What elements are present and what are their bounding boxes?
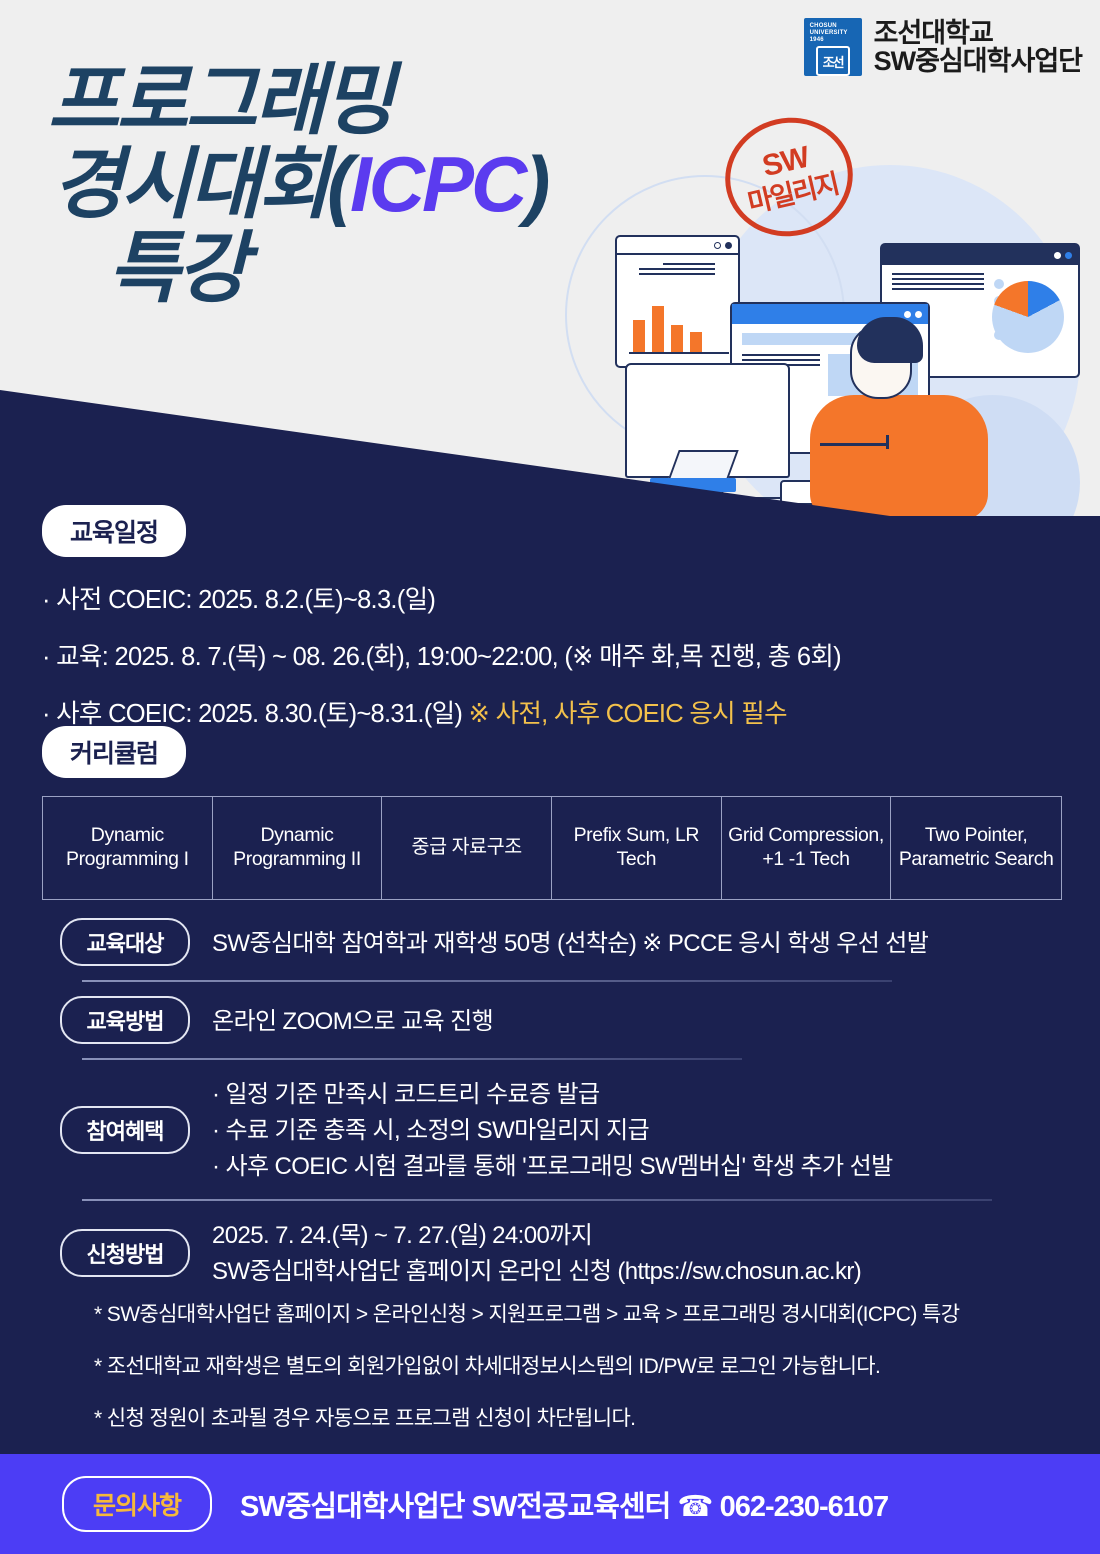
divider <box>82 1199 992 1201</box>
schedule-row-text: · 사전 COEIC: 2025. 8.2.(토)~8.3.(일) <box>42 586 435 614</box>
curriculum-cell: 중급 자료구조 <box>382 797 552 899</box>
window-dot-icon <box>915 311 922 318</box>
logo-latin-line-3: 1946 <box>804 37 862 44</box>
detail-text: SW중심대학 참여학과 재학생 50명 (선착순) ※ PCCE 응시 학생 우… <box>212 926 1050 962</box>
poster-root: SW 마일리지 CHOSUN UNIVERSITY 1946 조선 조선대학교 … <box>0 0 1100 1554</box>
detail-label-benefits: 참여혜택 <box>60 1106 190 1154</box>
detail-text: · 사후 COEIC 시험 결과를 통해 '프로그래밍 SW멤버십' 학생 추가… <box>212 1149 1050 1185</box>
divider <box>82 980 892 982</box>
person-body <box>810 395 988 520</box>
section-curriculum: 커리큘럼 Dynamic Programming I Dynamic Progr… <box>42 726 1062 900</box>
curriculum-cell: Grid Compression, +1 -1 Tech <box>722 797 892 899</box>
text-lines-placeholder <box>882 265 1078 290</box>
schedule-row: · 사전 COEIC: 2025. 8.2.(토)~8.3.(일) <box>42 579 1062 616</box>
window-dot-icon <box>725 242 732 249</box>
logo-mark-icon: CHOSUN UNIVERSITY 1946 조선 <box>804 18 862 76</box>
detail-text: 2025. 7. 24.(목) ~ 7. 27.(일) 24:00까지 <box>212 1218 1050 1254</box>
window-titlebar <box>617 237 738 255</box>
note-line: * 신청 정원이 초과될 경우 자동으로 프로그램 신청이 차단됩니다. <box>94 1402 959 1432</box>
footer-label: 문의사항 <box>62 1476 212 1532</box>
section-schedule: 교육일정 · 사전 COEIC: 2025. 8.2.(토)~8.3.(일) ·… <box>42 505 1062 750</box>
schedule-row: · 사후 COEIC: 2025. 8.30.(토)~8.31.(일) ※ 사전… <box>42 693 1062 730</box>
schedule-row-note: ※ 사전, 사후 COEIC 응시 필수 <box>469 700 787 728</box>
curriculum-cell: Two Pointer, Parametric Search <box>891 797 1061 899</box>
detail-content-target: SW중심대학 참여학과 재학생 50명 (선착순) ※ PCCE 응시 학생 우… <box>190 923 1050 962</box>
person-arm-vertical <box>886 435 889 449</box>
detail-label-method: 교육방법 <box>60 996 190 1044</box>
university-logo: CHOSUN UNIVERSITY 1946 조선 조선대학교 SW중심대학사업… <box>804 18 1082 76</box>
page-title: 프로그래밍 경시대회(ICPC) 특강 <box>48 58 547 311</box>
stamp-line-2: 마일리지 <box>745 170 840 217</box>
person-arm <box>820 443 888 446</box>
title-line-2: 경시대회(ICPC) <box>52 142 547 226</box>
bar-chart-icon <box>629 298 729 354</box>
detail-text: SW중심대학사업단 홈페이지 온라인 신청 (https://sw.chosun… <box>212 1254 1050 1290</box>
hero-illustration <box>595 195 1100 525</box>
section-notes: * SW중심대학사업단 홈페이지 > 온라인신청 > 지원프로그램 > 교육 >… <box>94 1298 959 1454</box>
curriculum-cell: Prefix Sum, LR Tech <box>552 797 722 899</box>
detail-text: · 일정 기준 만족시 코드트리 수료증 발급 <box>212 1077 1050 1113</box>
logo-name-line-2: SW중심대학사업단 <box>874 47 1082 75</box>
window-bar-chart <box>615 235 740 368</box>
schedule-label: 교육일정 <box>42 505 186 557</box>
divider <box>82 1058 742 1060</box>
logo-latin-line-2: UNIVERSITY <box>804 30 862 37</box>
footer-contact-text: SW중심대학사업단 SW전공교육센터 ☎ 062-230-6107 <box>240 1483 888 1525</box>
curriculum-label: 커리큘럼 <box>42 726 186 778</box>
logo-wordmark: 조선대학교 SW중심대학사업단 <box>874 19 1082 76</box>
person-hair <box>857 317 923 363</box>
section-details: 교육대상 SW중심대학 참여학과 재학생 50명 (선착순) ※ PCCE 응시… <box>60 918 1050 1290</box>
schedule-row: · 교육: 2025. 8. 7.(목) ~ 08. 26.(화), 19:00… <box>42 636 1062 673</box>
footer-contact: 문의사항 SW중심대학사업단 SW전공교육센터 ☎ 062-230-6107 <box>0 1454 1100 1554</box>
window-dot-icon <box>1054 252 1061 259</box>
detail-row-method: 교육방법 온라인 ZOOM으로 교육 진행 <box>60 996 1050 1044</box>
detail-label-target: 교육대상 <box>60 918 190 966</box>
detail-row-apply: 신청방법 2025. 7. 24.(목) ~ 7. 27.(일) 24:00까지… <box>60 1215 1050 1290</box>
logo-seal-icon: 조선 <box>816 46 850 76</box>
window-titlebar <box>882 245 1078 265</box>
text-lines-placeholder <box>617 255 738 275</box>
detail-row-target: 교육대상 SW중심대학 참여학과 재학생 50명 (선착순) ※ PCCE 응시… <box>60 918 1050 966</box>
logo-name-line-1: 조선대학교 <box>874 19 1082 47</box>
note-line: * SW중심대학사업단 홈페이지 > 온라인신청 > 지원프로그램 > 교육 >… <box>94 1298 959 1328</box>
title-line-1: 프로그래밍 <box>48 58 547 142</box>
curriculum-cell: Dynamic Programming I <box>43 797 213 899</box>
window-dot-icon <box>904 311 911 318</box>
curriculum-table: Dynamic Programming I Dynamic Programmin… <box>42 796 1062 900</box>
title-line-2-suffix: ) <box>524 140 547 228</box>
detail-text: · 수료 기준 충족 시, 소정의 SW마일리지 지급 <box>212 1113 1050 1149</box>
detail-row-benefits: 참여혜택 · 일정 기준 만족시 코드트리 수료증 발급 · 수료 기준 충족 … <box>60 1074 1050 1185</box>
schedule-row-text: · 사후 COEIC: 2025. 8.30.(토)~8.31.(일) <box>42 700 462 728</box>
title-line-3: 특강 <box>108 226 547 310</box>
detail-text: 온라인 ZOOM으로 교육 진행 <box>212 1004 1050 1040</box>
title-line-2-accent: ICPC <box>350 140 524 228</box>
schedule-list: · 사전 COEIC: 2025. 8.2.(토)~8.3.(일) · 교육: … <box>42 579 1062 730</box>
title-line-2-prefix: 경시대회( <box>52 140 350 228</box>
note-line: * 조선대학교 재학생은 별도의 회원가입없이 차세대정보시스템의 ID/PW로… <box>94 1350 959 1380</box>
detail-content-benefits: · 일정 기준 만족시 코드트리 수료증 발급 · 수료 기준 충족 시, 소정… <box>190 1074 1050 1185</box>
window-dot-icon <box>714 242 721 249</box>
detail-content-method: 온라인 ZOOM으로 교육 진행 <box>190 1001 1050 1040</box>
pie-chart-icon <box>992 281 1064 353</box>
detail-label-apply: 신청방법 <box>60 1229 190 1277</box>
detail-content-apply: 2025. 7. 24.(목) ~ 7. 27.(일) 24:00까지 SW중심… <box>190 1215 1050 1290</box>
logo-latin-line-1: CHOSUN <box>804 23 862 30</box>
schedule-row-text: · 교육: 2025. 8. 7.(목) ~ 08. 26.(화), 19:00… <box>42 643 841 671</box>
window-dot-icon <box>1065 252 1072 259</box>
curriculum-cell: Dynamic Programming II <box>213 797 383 899</box>
